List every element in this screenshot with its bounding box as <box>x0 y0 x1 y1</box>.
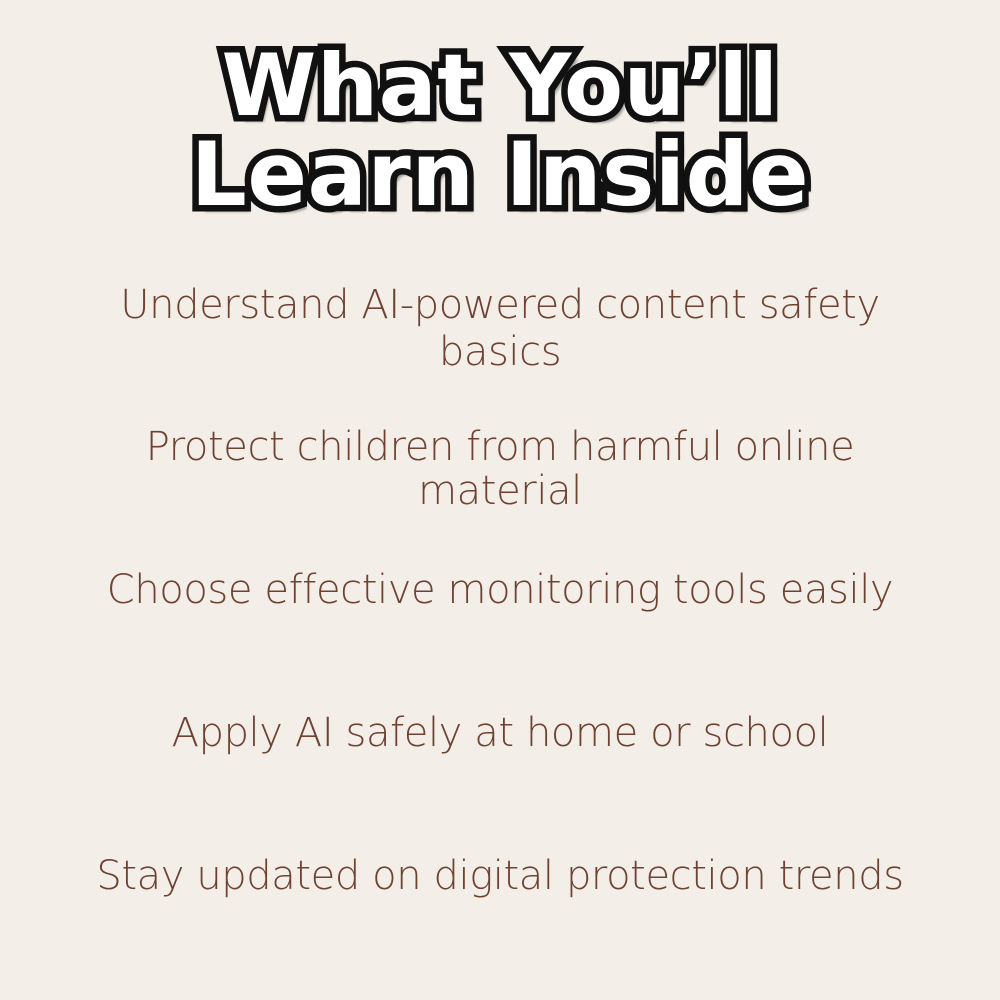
list-item: Understand AI-powered content safety bas… <box>80 282 920 425</box>
page-title-line-1: What You’ll <box>0 44 1000 129</box>
list-item: Apply AI safely at home or school <box>80 711 920 854</box>
slide-canvas: What You’ll Learn Inside Understand AI-p… <box>0 0 1000 1000</box>
list-item: Choose effective monitoring tools easily <box>80 568 920 711</box>
list-item: Stay updated on digital protection trend… <box>80 854 920 997</box>
page-title-line-2: Learn Inside <box>0 131 1000 218</box>
page-title: What You’ll Learn Inside <box>0 44 1000 218</box>
learning-points-list: Understand AI-powered content safety bas… <box>0 282 1000 997</box>
list-item: Protect children from harmful online mat… <box>80 425 920 568</box>
